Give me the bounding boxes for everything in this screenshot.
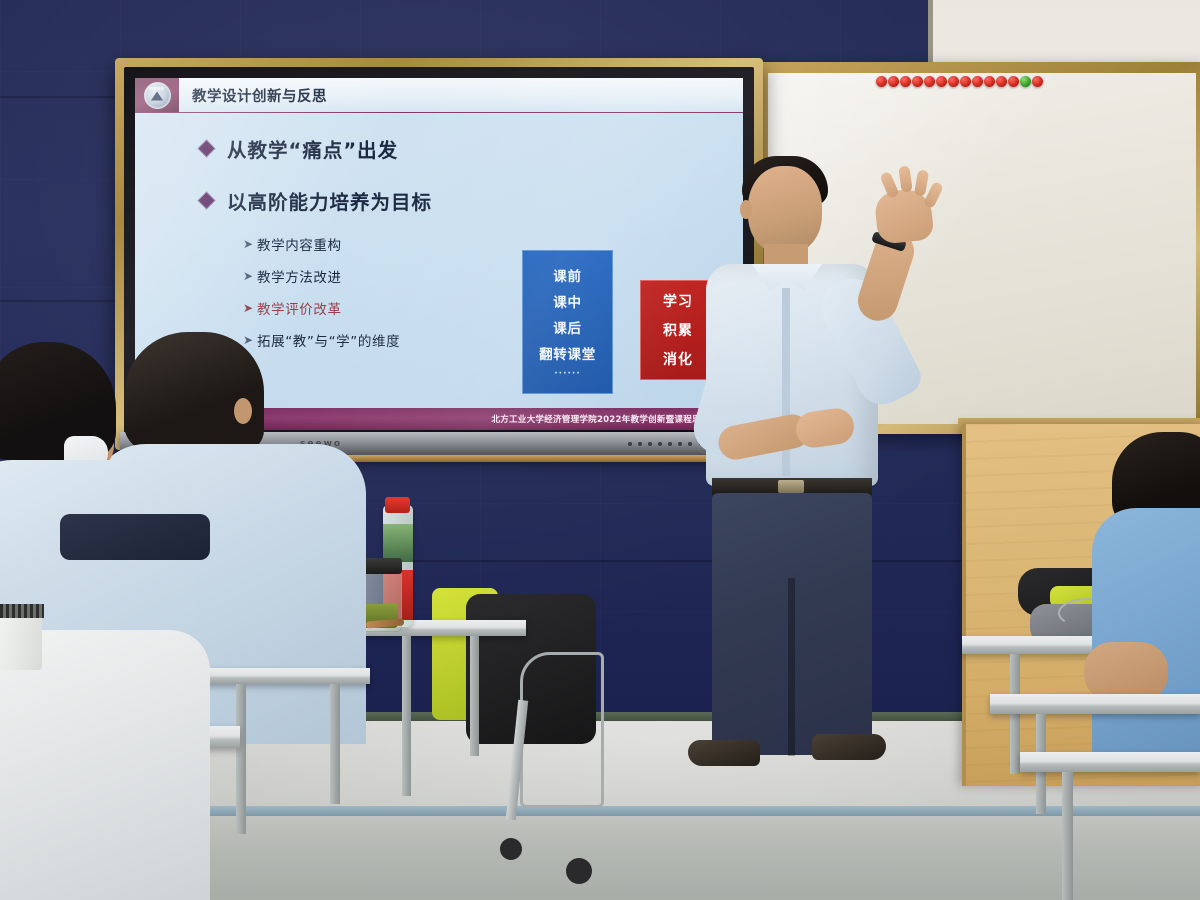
- desk-right-mid: [990, 694, 1200, 714]
- desk-leg: [470, 636, 479, 756]
- blue-box-ellipsis: ······: [554, 369, 581, 379]
- cup-lid: [0, 604, 44, 618]
- audience-right-blue: [1080, 432, 1200, 792]
- arm: [1084, 642, 1168, 702]
- presenter-right-shoe: [812, 734, 886, 760]
- blue-box-item: 翻转课堂: [539, 343, 596, 363]
- sub-bullet-text: 教学评价改革: [257, 298, 342, 318]
- presenter-finger: [898, 165, 913, 192]
- blue-box-item: 课后: [553, 317, 581, 337]
- university-emblem-icon: [144, 82, 171, 109]
- presenter-head: [748, 166, 822, 254]
- desk-leg: [236, 684, 246, 834]
- desk-leg: [402, 636, 411, 796]
- sub-bullet-text: 教学内容重构: [257, 234, 342, 254]
- classroom-photo: 教学设计创新与反思 从教学“痛点”出发 以高阶能力培养为目标 ➤ 教学内容重构: [0, 0, 1200, 900]
- sub-bullet-text: 教学方法改进: [257, 266, 342, 286]
- presenter-trouser-split: [788, 578, 795, 756]
- blue-box-item: 课中: [553, 291, 581, 311]
- desk-leg: [1010, 654, 1020, 774]
- shirt: [1092, 508, 1200, 768]
- desk-right-front: [1020, 752, 1200, 772]
- main-bullet-text: 从教学“痛点”出发: [227, 134, 398, 163]
- water-bottle-label-upper: [383, 524, 413, 562]
- slide-title: 教学设计创新与反思: [192, 85, 327, 106]
- slide-title-bar: 教学设计创新与反思: [135, 78, 743, 113]
- arrow-bullet-icon: ➤: [243, 301, 257, 315]
- presenter-raised-hand: [873, 187, 934, 245]
- main-bullet-text: 以高阶能力培养为目标: [227, 186, 432, 215]
- water-bottle-cap: [385, 497, 410, 513]
- blue-process-box: 课前 课中 课后 翻转课堂 ······: [522, 250, 613, 394]
- presenter-left-shoe: [688, 740, 760, 766]
- presenter-ear: [740, 200, 752, 219]
- audience-foreground-white: [0, 630, 190, 900]
- diamond-bullet-icon: [199, 193, 215, 209]
- ear: [234, 398, 252, 424]
- magnet-row: [876, 76, 1043, 87]
- arrow-bullet-icon: ➤: [243, 237, 257, 251]
- chair-caster: [500, 838, 522, 860]
- presenter: [660, 148, 970, 788]
- cup: [0, 612, 42, 670]
- green-magnet-icon: [1020, 76, 1031, 87]
- chair-caster: [566, 858, 592, 884]
- university-emblem-block: [135, 78, 179, 112]
- shirt: [0, 630, 210, 900]
- dark-bag: [60, 514, 210, 560]
- chair-frame: [520, 652, 604, 808]
- presenter-finger: [914, 169, 929, 197]
- presenter-belt-buckle: [778, 480, 804, 493]
- diamond-bullet-icon: [199, 141, 215, 157]
- arrow-bullet-icon: ➤: [243, 269, 257, 283]
- desk-leg: [1062, 772, 1073, 900]
- desk-leg: [330, 684, 340, 804]
- blue-box-item: 课前: [553, 265, 581, 285]
